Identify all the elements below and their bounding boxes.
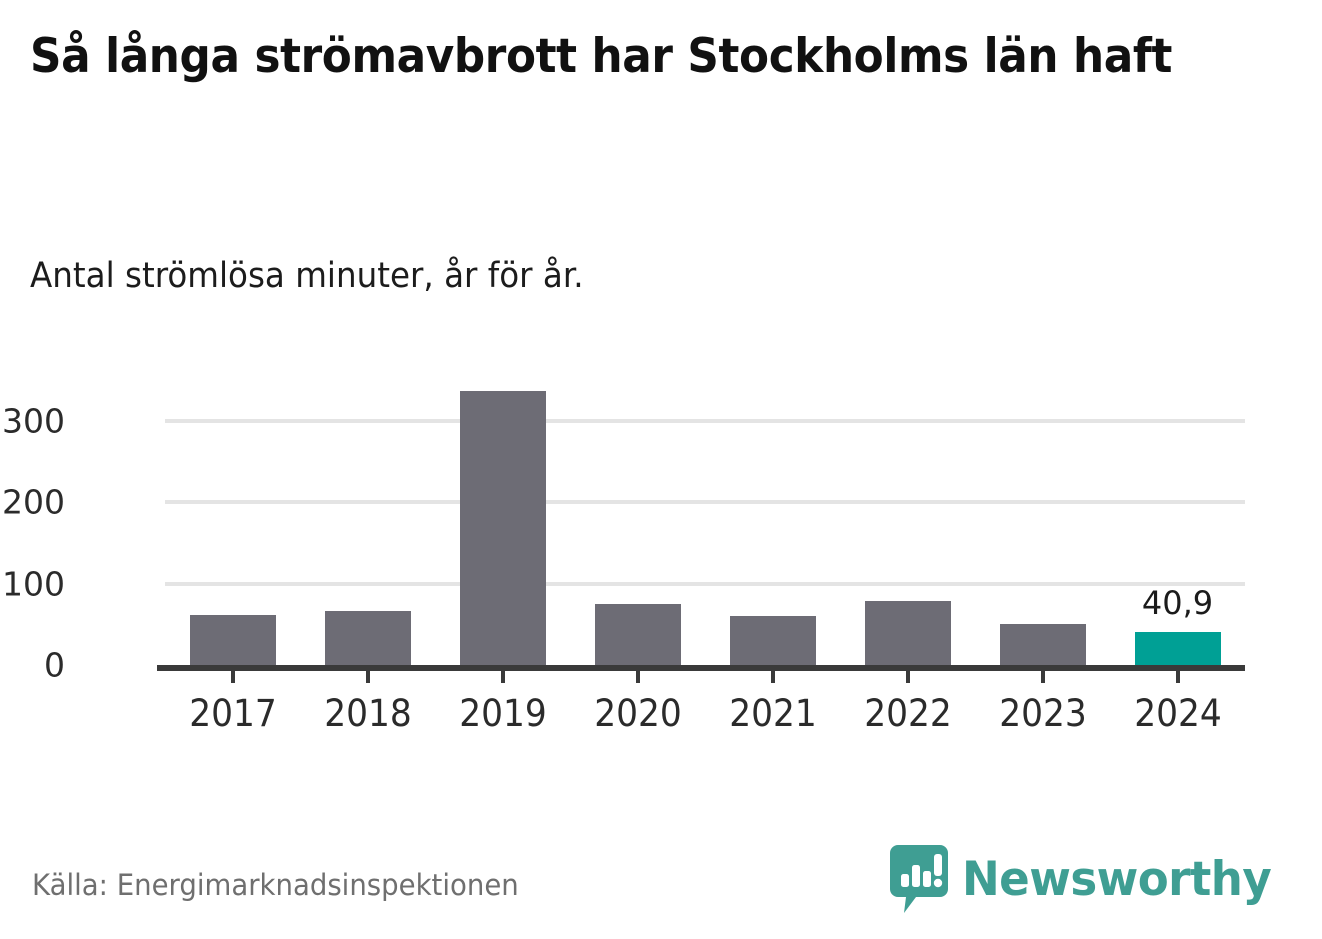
bar-group-2023[interactable]: 2023 — [975, 380, 1110, 665]
bar-2019[interactable] — [460, 391, 546, 665]
x-axis-tick-label-2017: 2017 — [189, 692, 277, 735]
bar-2022[interactable] — [865, 601, 951, 665]
bar-2021[interactable] — [730, 616, 816, 665]
x-axis-tick-mark — [366, 665, 370, 683]
bar-2023[interactable] — [1000, 624, 1086, 665]
y-axis-tick-label: 100 — [0, 564, 65, 603]
bar-2024[interactable] — [1135, 632, 1221, 665]
chart-page: Så långa strömavbrott har Stockholms län… — [0, 0, 1322, 939]
bar-group-2024[interactable]: 40,92024 — [1110, 380, 1245, 665]
x-axis-tick-mark — [231, 665, 235, 683]
bar-2018[interactable] — [325, 611, 411, 665]
x-axis-tick-label-2022: 2022 — [864, 692, 952, 735]
newsworthy-wordmark: Newsworthy — [962, 852, 1271, 907]
x-axis-tick-label-2021: 2021 — [729, 692, 817, 735]
x-axis-line — [157, 665, 1245, 671]
x-axis-tick-label-2019: 2019 — [459, 692, 547, 735]
bar-group-2017[interactable]: 2017 — [165, 380, 300, 665]
x-axis-tick-mark — [1041, 665, 1045, 683]
bar-group-2019[interactable]: 2019 — [435, 380, 570, 665]
x-axis-tick-mark — [771, 665, 775, 683]
x-axis-tick-label-2018: 2018 — [324, 692, 412, 735]
newsworthy-logo[interactable]: Newsworthy — [890, 845, 1284, 913]
y-axis-tick-label: 300 — [0, 402, 65, 441]
bar-2017[interactable] — [190, 615, 276, 665]
bar-2020[interactable] — [595, 604, 681, 665]
y-axis-tick-label: 200 — [0, 483, 65, 522]
x-axis-tick-mark — [1176, 665, 1180, 683]
plot-inner: 0100200300 20172018201920202021202220234… — [165, 380, 1245, 670]
x-axis-tick-mark — [501, 665, 505, 683]
chart-subtitle: Antal strömlösa minuter, år för år. — [30, 256, 584, 296]
x-axis-tick-label-2024: 2024 — [1134, 692, 1222, 735]
chart-header: Så långa strömavbrott har Stockholms län… — [30, 28, 1280, 85]
bar-group-2018[interactable]: 2018 — [300, 380, 435, 665]
page-title: Så långa strömavbrott har Stockholms län… — [30, 28, 1193, 85]
x-axis-tick-label-2020: 2020 — [594, 692, 682, 735]
bar-group-2020[interactable]: 2020 — [570, 380, 705, 665]
x-axis-tick-mark — [636, 665, 640, 683]
bar-group-2022[interactable]: 2022 — [840, 380, 975, 665]
y-axis-tick-label: 0 — [0, 646, 65, 685]
newsworthy-bar-bubble-icon — [890, 845, 948, 913]
chart-plot-area: 0100200300 20172018201920202021202220234… — [0, 380, 1322, 760]
x-axis-tick-label-2023: 2023 — [999, 692, 1087, 735]
bars-group: 201720182019202020212022202340,92024 — [165, 380, 1245, 665]
bar-group-2021[interactable]: 2021 — [705, 380, 840, 665]
source-note: Källa: Energimarknadsinspektionen — [32, 868, 519, 902]
bar-value-label-2024: 40,9 — [1142, 584, 1213, 622]
x-axis-tick-mark — [906, 665, 910, 683]
